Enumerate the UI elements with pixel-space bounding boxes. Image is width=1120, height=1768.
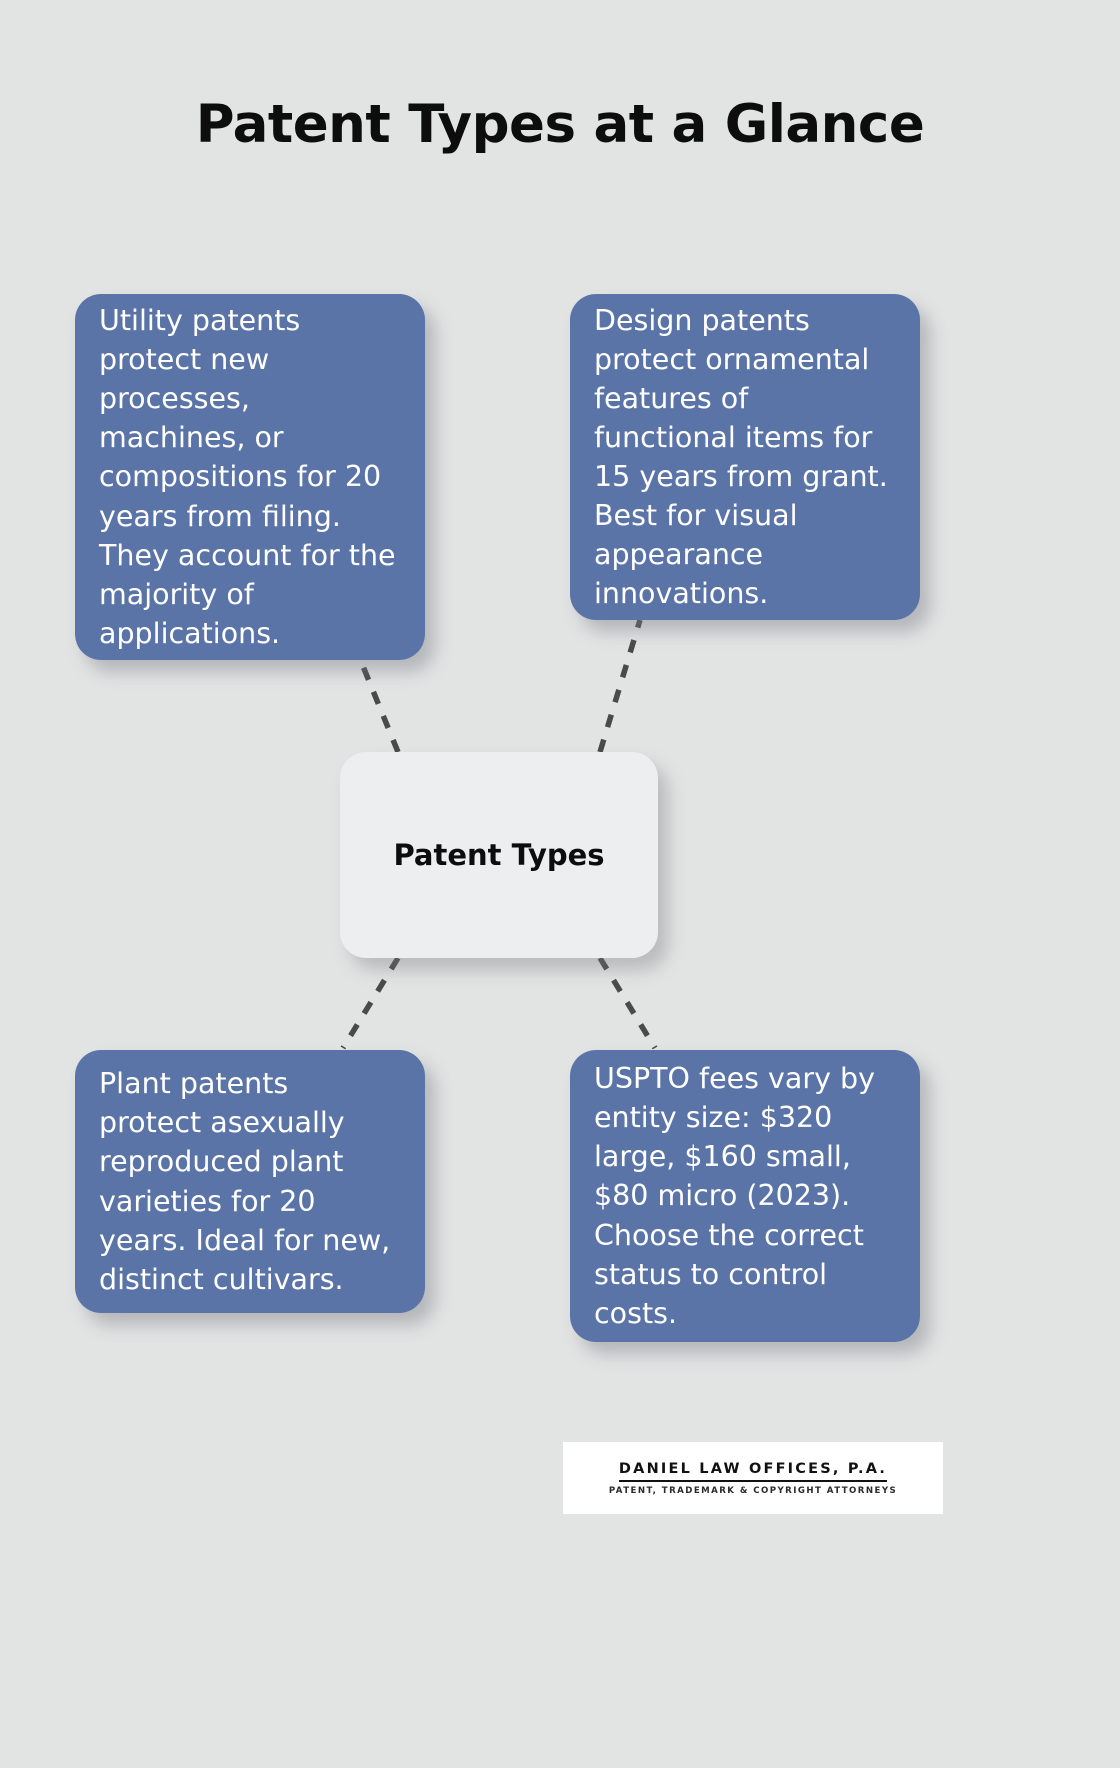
page-title: Patent Types at a Glance (0, 96, 1120, 154)
connector-line-fees (600, 958, 655, 1048)
connector-line-utility (358, 654, 398, 752)
connector-line-design (600, 620, 640, 752)
firm-logo: DANIEL LAW OFFICES, P.A. PATENT, TRADEMA… (563, 1442, 943, 1514)
firm-logo-name: DANIEL LAW OFFICES, P.A. (619, 1461, 887, 1482)
card-utility-patents[interactable]: Utility patents protect new processes, m… (75, 294, 425, 660)
card-design-patents[interactable]: Design patents protect ornamental featur… (570, 294, 920, 620)
infographic-canvas: Patent Types at a Glance Utility patents… (0, 0, 1120, 1768)
card-utility-patents-text: Utility patents protect new processes, m… (75, 301, 425, 652)
card-plant-patents-text: Plant patents protect asexually reproduc… (75, 1064, 425, 1298)
center-node-label: Patent Types (393, 838, 604, 872)
card-uspto-fees[interactable]: USPTO fees vary by entity size: $320 lar… (570, 1050, 920, 1342)
card-design-patents-text: Design patents protect ornamental featur… (570, 301, 920, 613)
card-plant-patents[interactable]: Plant patents protect asexually reproduc… (75, 1050, 425, 1313)
center-node-patent-types[interactable]: Patent Types (340, 752, 658, 958)
connector-line-plant (343, 958, 398, 1048)
card-uspto-fees-text: USPTO fees vary by entity size: $320 lar… (570, 1059, 920, 1332)
firm-logo-tagline: PATENT, TRADEMARK & COPYRIGHT ATTORNEYS (609, 1486, 897, 1496)
